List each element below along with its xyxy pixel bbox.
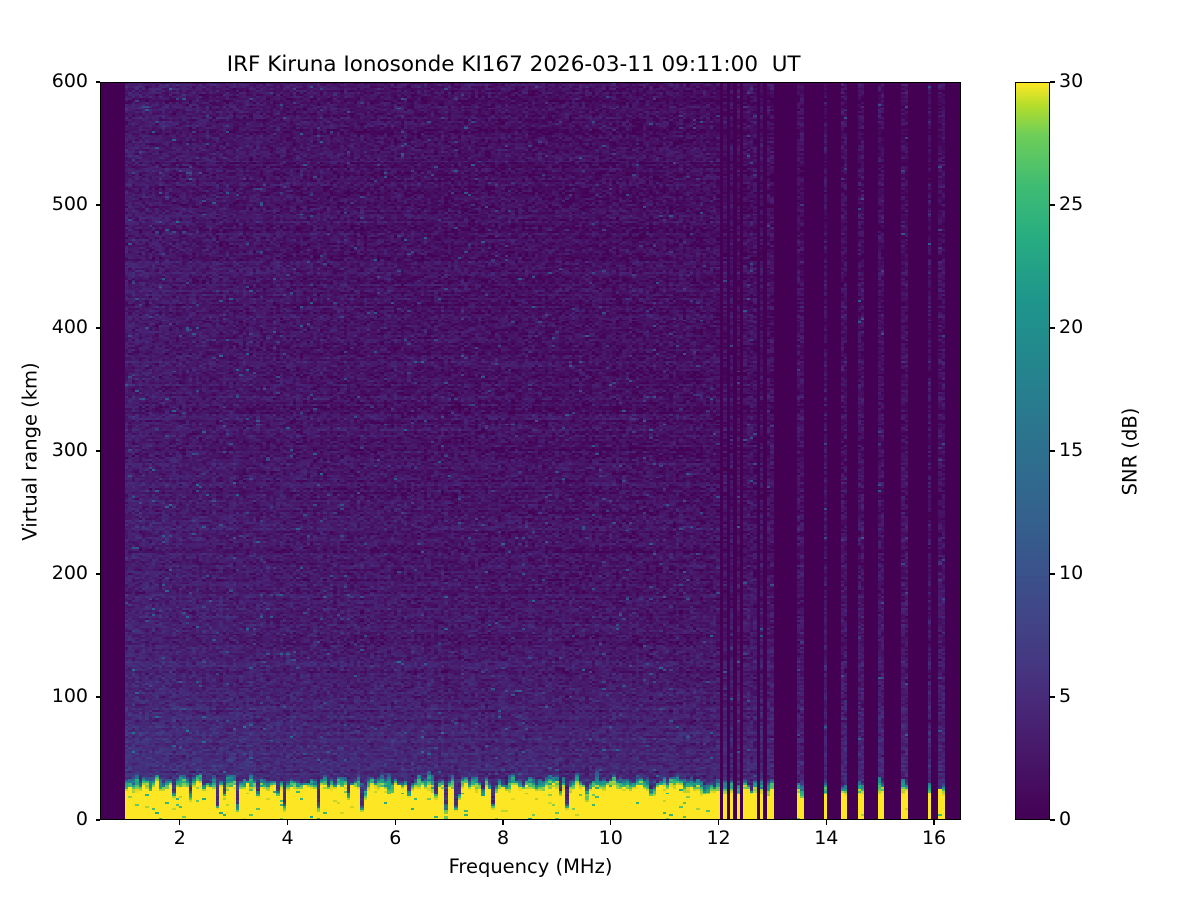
y-tick-label: 300 (4, 439, 88, 461)
x-tick-label: 12 (689, 827, 749, 849)
x-tick-label: 10 (581, 827, 641, 849)
colorbar-tick-mark (1050, 327, 1055, 328)
ionogram-heatmap (101, 83, 960, 819)
x-tick-mark (610, 820, 611, 825)
x-tick-mark (395, 820, 396, 825)
x-tick-label: 2 (150, 827, 210, 849)
y-tick-mark (96, 81, 101, 82)
x-tick-mark (826, 820, 827, 825)
y-axis-title: Virtual range (km) (19, 302, 42, 602)
ionogram-plot-area (100, 82, 961, 820)
y-tick-mark (96, 573, 101, 574)
figure-title-line1: IRF Kiruna Ionosonde KI167 2026-03-11 09… (227, 52, 801, 77)
y-tick-label: 100 (4, 685, 88, 707)
colorbar-tick-label: 5 (1059, 685, 1071, 707)
colorbar-tick-mark (1050, 204, 1055, 205)
y-tick-label: 600 (4, 70, 88, 92)
y-tick-label: 500 (4, 193, 88, 215)
x-tick-mark (179, 820, 180, 825)
ionogram-canvas (101, 83, 960, 819)
colorbar-tick-label: 30 (1059, 70, 1083, 92)
x-tick-label: 4 (258, 827, 318, 849)
x-tick-label: 6 (365, 827, 425, 849)
colorbar-tick-mark (1050, 696, 1055, 697)
x-tick-mark (502, 820, 503, 825)
x-tick-mark (933, 820, 934, 825)
x-axis-title: Frequency (MHz) (100, 855, 961, 878)
colorbar-tick-label: 15 (1059, 439, 1083, 461)
colorbar-tick-label: 10 (1059, 562, 1083, 584)
colorbar (1015, 82, 1050, 820)
x-tick-mark (287, 820, 288, 825)
colorbar-tick-label: 0 (1059, 808, 1071, 830)
colorbar-tick-label: 25 (1059, 193, 1083, 215)
colorbar-tick-label: 20 (1059, 316, 1083, 338)
y-tick-label: 400 (4, 316, 88, 338)
colorbar-title: SNR (dB) (1119, 302, 1142, 602)
x-tick-mark (718, 820, 719, 825)
x-tick-label: 16 (904, 827, 964, 849)
y-tick-label: 0 (4, 808, 88, 830)
y-tick-mark (96, 327, 101, 328)
colorbar-tick-mark (1050, 819, 1055, 820)
y-tick-mark (96, 819, 101, 820)
colorbar-tick-mark (1050, 573, 1055, 574)
ionogram-figure: IRF Kiruna Ionosonde KI167 2026-03-11 09… (0, 0, 1200, 900)
colorbar-tick-mark (1050, 450, 1055, 451)
x-tick-label: 8 (473, 827, 533, 849)
y-tick-mark (96, 450, 101, 451)
y-tick-label: 200 (4, 562, 88, 584)
y-tick-mark (96, 696, 101, 697)
y-tick-mark (96, 204, 101, 205)
x-tick-label: 14 (796, 827, 856, 849)
colorbar-tick-mark (1050, 81, 1055, 82)
